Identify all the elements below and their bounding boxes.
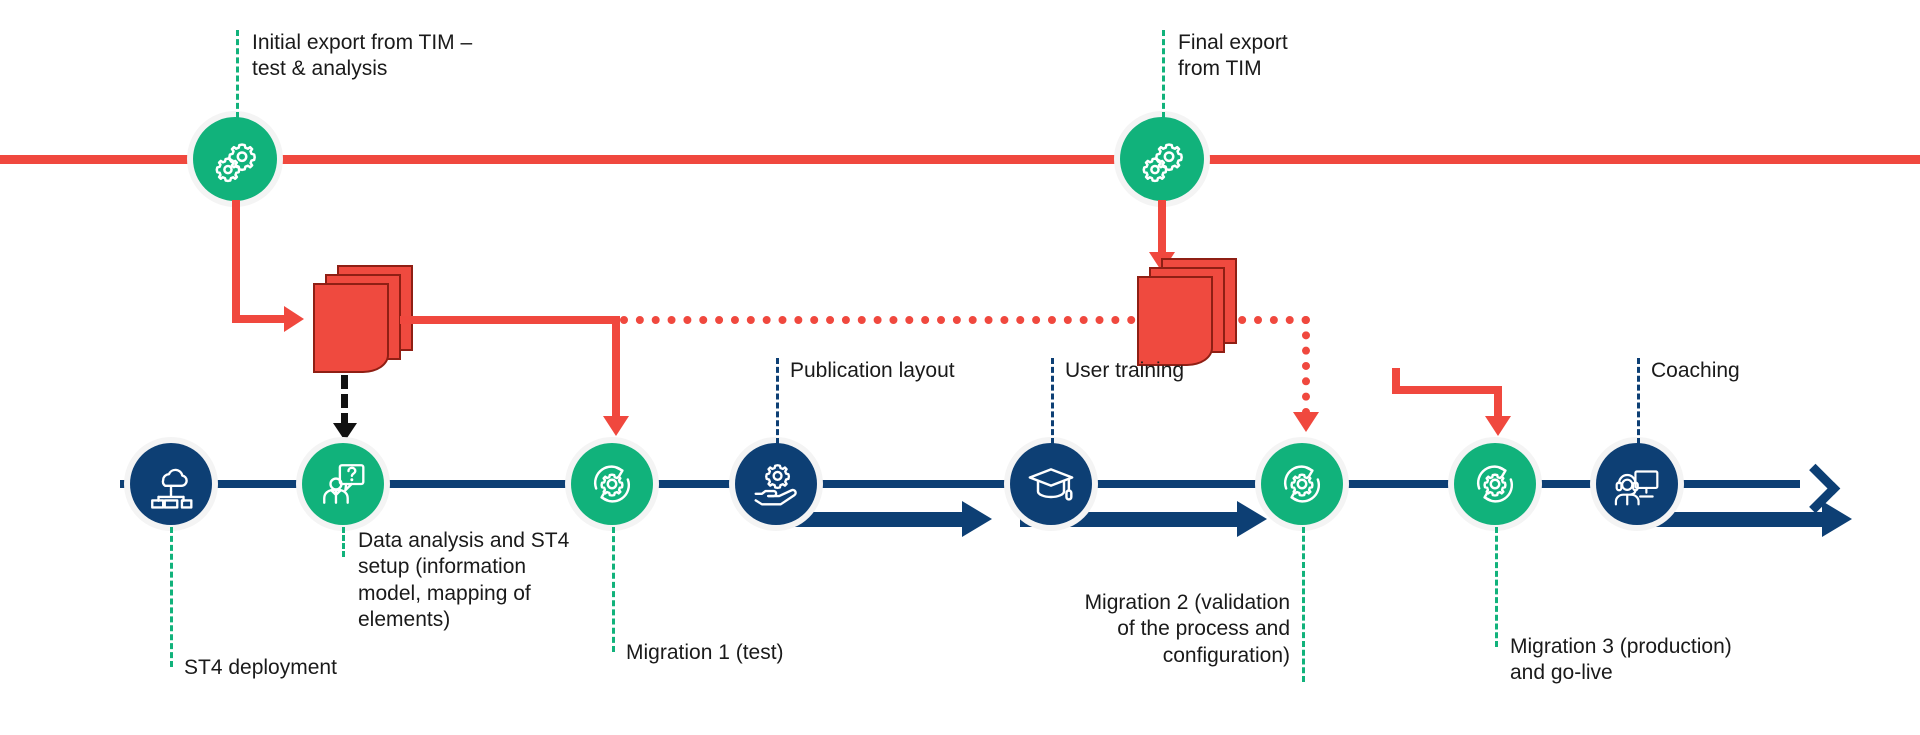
- doc-stack-initial: [313, 265, 403, 370]
- leader-publication-layout: [776, 358, 779, 444]
- flow-bar-1: [790, 512, 965, 527]
- flow-bar-3-arrowhead: [1822, 501, 1852, 537]
- leader-data-analysis: [342, 527, 345, 557]
- label-user-training: User training: [1065, 358, 1365, 384]
- red-connector-mig1-down: [612, 316, 620, 420]
- diagram-canvas: Initial export from TIM – test & analysi…: [0, 0, 1920, 735]
- red-connector-mig3-down: [1494, 386, 1502, 420]
- node-migration-2[interactable]: [1261, 443, 1343, 525]
- leader-migration-2: [1302, 527, 1305, 682]
- red-arrow-into-docstack: [284, 306, 304, 332]
- top-red-timeline: [0, 155, 1920, 164]
- red-arrow-into-migration-1: [603, 416, 629, 436]
- red-connector-stackfinal-right: [1392, 386, 1502, 394]
- person-question-icon: [318, 459, 368, 509]
- gear-cycle-icon: [1276, 458, 1328, 510]
- graduation-cap-icon: [1025, 458, 1077, 510]
- doc-stack-final: [1137, 258, 1227, 363]
- label-coaching: Coaching: [1651, 358, 1901, 384]
- node-data-analysis[interactable]: [302, 443, 384, 525]
- label-st4-deployment: ST4 deployment: [184, 655, 484, 681]
- label-migration-2: Migration 2 (validation of the process a…: [990, 590, 1290, 669]
- red-connector-initial-down: [232, 200, 240, 320]
- label-publication-layout: Publication layout: [790, 358, 1090, 384]
- hand-gear-icon: [751, 459, 801, 509]
- node-migration-3[interactable]: [1454, 443, 1536, 525]
- red-connector-stack-to-mig1: [400, 316, 620, 324]
- leader-initial-export: [236, 30, 239, 118]
- label-migration-3: Migration 3 (production) and go-live: [1510, 634, 1870, 687]
- label-final-export: Final export from TIM: [1178, 30, 1428, 83]
- gears-icon: [210, 134, 260, 184]
- node-coaching[interactable]: [1596, 443, 1678, 525]
- node-initial-export[interactable]: [193, 117, 277, 201]
- dashed-arrow-to-data-analysis: [341, 375, 348, 427]
- red-dotted-arrow-into-migration-2: [1293, 412, 1319, 432]
- leader-final-export: [1162, 30, 1165, 118]
- node-publication-layout[interactable]: [735, 443, 817, 525]
- red-arrow-into-migration-3: [1485, 416, 1511, 436]
- red-connector-final-down: [1158, 200, 1166, 260]
- gear-cycle-icon: [1469, 458, 1521, 510]
- leader-migration-1: [612, 527, 615, 652]
- leader-st4-deployment: [170, 527, 173, 667]
- leader-coaching: [1637, 358, 1640, 444]
- leader-migration-3: [1495, 527, 1498, 647]
- doc-sheet: [1137, 276, 1213, 366]
- flow-bar-3: [1640, 512, 1825, 527]
- red-connector-initial-right: [232, 315, 292, 323]
- support-agent-icon: [1612, 459, 1662, 509]
- label-initial-export: Initial export from TIM – test & analysi…: [252, 30, 582, 83]
- gear-cycle-icon: [586, 458, 638, 510]
- label-migration-1: Migration 1 (test): [626, 640, 926, 666]
- node-user-training[interactable]: [1010, 443, 1092, 525]
- dashed-arrow-head: [333, 423, 357, 441]
- node-final-export[interactable]: [1120, 117, 1204, 201]
- flow-bar-2-arrowhead: [1237, 501, 1267, 537]
- cloud-network-icon: [146, 459, 196, 509]
- doc-sheet: [313, 283, 389, 373]
- leader-user-training: [1051, 358, 1054, 444]
- node-migration-1[interactable]: [571, 443, 653, 525]
- node-st4-deployment[interactable]: [130, 443, 212, 525]
- flow-bar-1-arrowhead: [962, 501, 992, 537]
- gears-icon: [1137, 134, 1187, 184]
